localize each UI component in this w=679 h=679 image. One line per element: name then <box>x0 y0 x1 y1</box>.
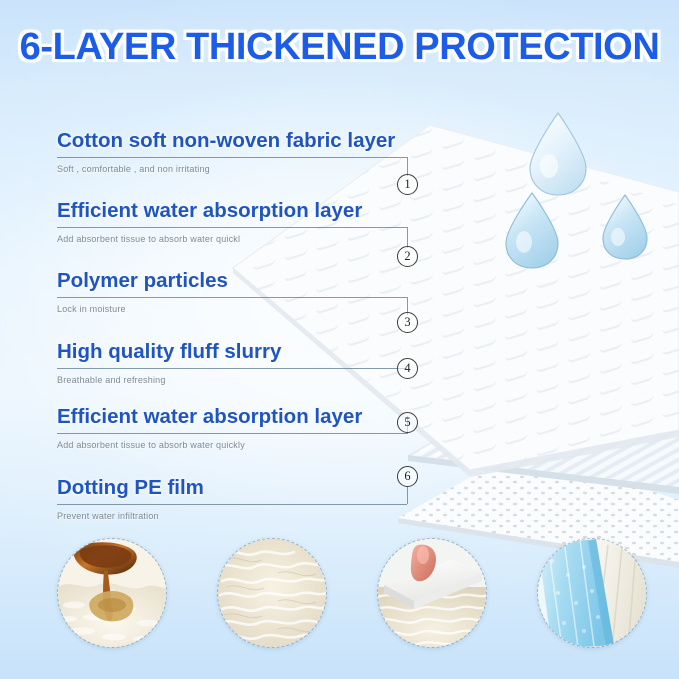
layer-title-1: Cotton soft non-woven fabric layer <box>57 130 395 152</box>
layer-title-6: Dotting PE film <box>57 477 204 499</box>
illustration-layer-3 <box>407 250 607 361</box>
layer-subtitle-4: Breathable and refreshing <box>57 375 281 385</box>
layer-label-4: High quality fluff slurry Breathable and… <box>57 341 281 385</box>
layer-label-5: Efficient water absorption layer Add abs… <box>57 406 362 450</box>
layer-rule-3 <box>57 297 407 298</box>
layer-number-4: 4 <box>397 358 418 379</box>
layer-title-2: Efficient water absorption layer <box>57 200 362 222</box>
layer-subtitle-3: Lock in moisture <box>57 304 228 314</box>
layer-number-3: 3 <box>397 312 418 333</box>
illustration-layer-1 <box>233 0 679 550</box>
layer-subtitle-2: Add absorbent tissue to absorb water qui… <box>57 234 362 244</box>
layer-subtitle-5: Add absorbent tissue to absorb water qui… <box>57 440 362 450</box>
layer-rule-5 <box>57 433 407 434</box>
layer-title-4: High quality fluff slurry <box>57 341 281 363</box>
leader-line-2 <box>407 227 408 248</box>
photo-blue-white-fabric-layers <box>537 538 647 648</box>
photo-liquid-absorption-test <box>57 538 167 648</box>
layer-label-6: Dotting PE film Prevent water infiltrati… <box>57 477 204 521</box>
layer-number-6: 6 <box>397 466 418 487</box>
leader-line-6 <box>407 487 408 504</box>
droplet-medium <box>506 193 558 268</box>
layer-rule-4 <box>57 368 407 369</box>
bead-fringe <box>397 261 647 346</box>
layer-rule-6 <box>57 504 407 505</box>
layer-number-1: 1 <box>397 174 418 195</box>
infographic-page: 6-LAYER THICKENED PROTECTION <box>0 0 679 679</box>
layer-number-2: 2 <box>397 246 418 267</box>
photo-fluff-pulp-closeup <box>217 538 327 648</box>
water-droplets <box>506 113 647 268</box>
droplet-large <box>530 113 586 195</box>
layer-number-5: 5 <box>397 412 418 433</box>
page-title: 6-LAYER THICKENED PROTECTION <box>20 26 660 69</box>
illustration-layer-4 <box>408 322 679 432</box>
photo-strip <box>0 532 679 657</box>
droplet-small <box>603 195 647 259</box>
fluff-tufts <box>430 334 661 392</box>
layer-label-2: Efficient water absorption layer Add abs… <box>57 200 362 244</box>
photo-tissue-layer-press-test <box>377 538 487 648</box>
layer-title-5: Efficient water absorption layer <box>57 406 362 428</box>
layer-rule-2 <box>57 227 407 228</box>
layer-label-3: Polymer particles Lock in moisture <box>57 270 228 314</box>
title-container: 6-LAYER THICKENED PROTECTION <box>0 26 679 69</box>
illustration-layer-5 <box>408 384 679 494</box>
layer-subtitle-6: Prevent water infiltration <box>57 511 204 521</box>
illustration-layer-2 <box>397 187 679 346</box>
layer-title-3: Polymer particles <box>57 270 228 292</box>
layer-subtitle-1: Soft , comfortable , and non irritating <box>57 164 395 174</box>
layer-rule-1 <box>57 157 407 158</box>
layer-label-1: Cotton soft non-woven fabric layer Soft … <box>57 130 395 174</box>
